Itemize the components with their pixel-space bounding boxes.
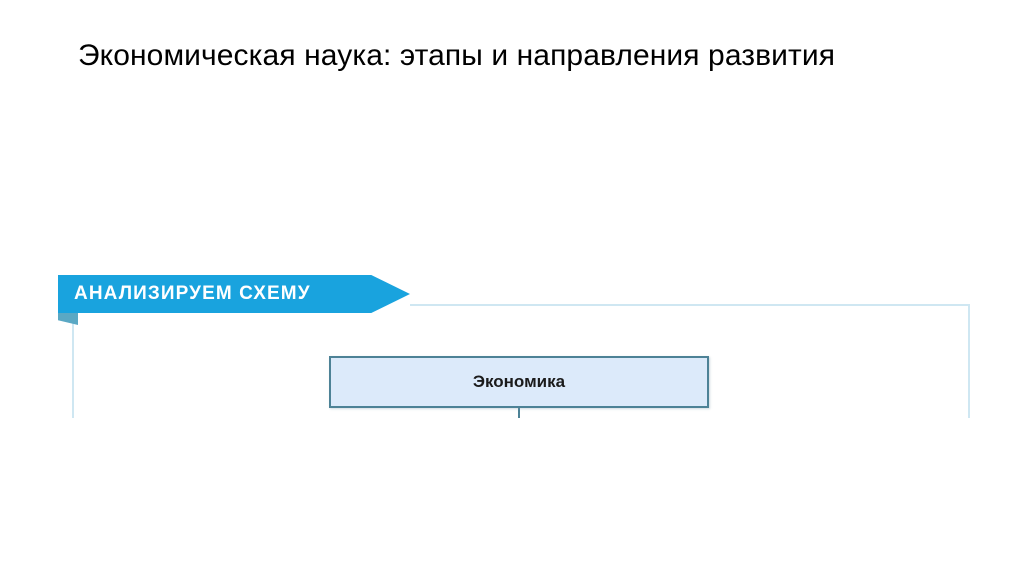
analyze-banner: АНАЛИЗИРУЕМ СХЕМУ bbox=[58, 275, 410, 313]
banner-label: АНАЛИЗИРУЕМ СХЕМУ bbox=[74, 275, 311, 313]
figure-frame-top bbox=[410, 304, 970, 306]
page-title: Экономическая наука: этапы и направления… bbox=[78, 36, 958, 76]
slide-figure: АНАЛИЗИРУЕМ СХЕМУ Экономика Хозяйство На… bbox=[0, 128, 1024, 418]
banner-fold-tab bbox=[58, 313, 78, 325]
connector-root-stem bbox=[518, 408, 520, 418]
figure-frame-right bbox=[968, 304, 970, 418]
diagram-node-root: Экономика bbox=[329, 356, 709, 408]
